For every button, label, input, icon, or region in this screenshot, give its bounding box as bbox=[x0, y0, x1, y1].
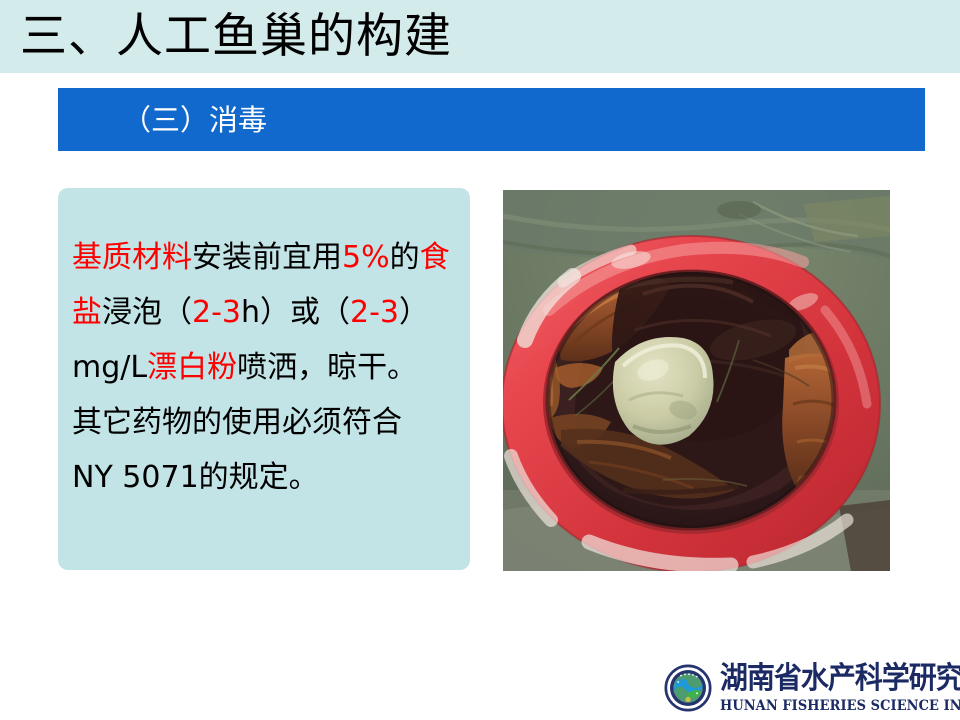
body-text-highlight: 漂白粉 bbox=[147, 350, 237, 385]
page-title: 三、人工鱼巢的构建 bbox=[20, 5, 452, 69]
body-text-segment: 的 bbox=[390, 240, 420, 275]
body-text-segment: 浸泡（ bbox=[102, 295, 192, 330]
body-text-highlight: 基质材料 bbox=[72, 240, 192, 275]
body-text-segment: 其它药物的使用必须符合 bbox=[72, 405, 402, 440]
logo-chinese-name: 湖南省水产科学研究所 bbox=[720, 662, 960, 696]
body-text-segment: 安装前宜用 bbox=[192, 240, 342, 275]
body-text-segment: mg/L bbox=[72, 350, 147, 385]
body-text-line: 盐浸泡（2-3h）或（2-3） bbox=[72, 285, 456, 340]
basin-soaking-photo bbox=[503, 190, 890, 571]
body-text-segment: h）或（ bbox=[241, 295, 350, 330]
organization-logo: 湖南省水产科学研究所 HUNAN FISHERIES SCIENCE INSTI… bbox=[664, 664, 948, 716]
basin-soaking-photo-graphic bbox=[503, 190, 890, 571]
body-text-line: mg/L漂白粉喷洒，晾干。 bbox=[72, 340, 456, 395]
section-header-label: （三）消毒 bbox=[122, 101, 267, 139]
body-text-panel: 基质材料安装前宜用5%的食盐浸泡（2-3h）或（2-3）mg/L漂白粉喷洒，晾干… bbox=[58, 188, 470, 570]
body-text-segment: ） bbox=[399, 295, 429, 330]
section-header-bar: （三）消毒 bbox=[58, 88, 925, 151]
body-text-highlight: 2-3 bbox=[192, 295, 241, 330]
body-text-segment: 喷洒，晾干。 bbox=[237, 350, 417, 385]
body-text-highlight: 5% bbox=[342, 240, 390, 275]
body-text-highlight: 2-3 bbox=[350, 295, 399, 330]
fish-emblem-icon bbox=[664, 664, 712, 712]
body-text-line: 基质材料安装前宜用5%的食 bbox=[72, 230, 456, 285]
body-text-highlight: 盐 bbox=[72, 295, 102, 330]
body-text-line: NY 5071的规定。 bbox=[72, 450, 456, 505]
title-band: 三、人工鱼巢的构建 bbox=[0, 0, 960, 73]
body-text-line: 其它药物的使用必须符合 bbox=[72, 395, 456, 450]
body-text-segment: NY 5071的规定。 bbox=[72, 460, 319, 495]
body-text-highlight: 食 bbox=[420, 240, 450, 275]
logo-english-name: HUNAN FISHERIES SCIENCE INSTITUTE bbox=[720, 698, 960, 714]
